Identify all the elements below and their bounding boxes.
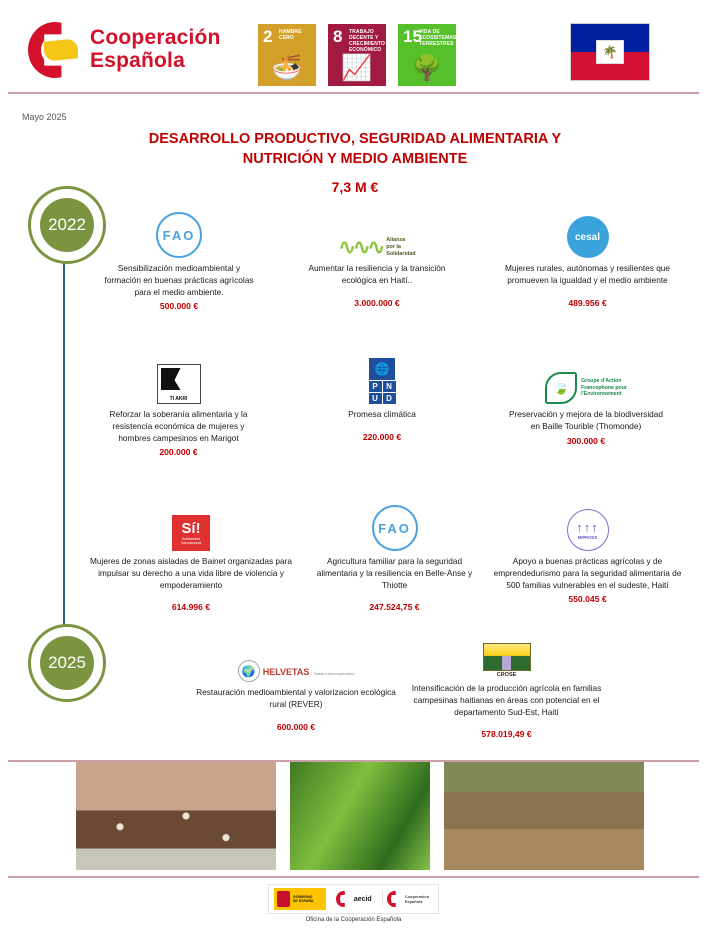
sdg-icons-row: 2 HAMBRE CERO 🍜 8 TRABAJO DECENTE Y CREC… [258, 24, 456, 86]
helvetas-wordmark: HELVETAS [263, 667, 310, 677]
page-footer: GOBIERNO DE ESPAÑA aecid Cooperación Esp… [0, 884, 707, 923]
cooperacion-espanola-c-icon-footer [387, 891, 402, 907]
footer-caption: Oficina de la Cooperación Española [0, 917, 707, 923]
project-amount: 489.956 € [495, 298, 680, 308]
project-amount: 300.000 € [506, 436, 666, 446]
page-title-line-2: NUTRICIÓN Y MEDIO AMBIENTE [120, 150, 590, 170]
crose-logo-icon: CROSE [483, 643, 531, 678]
spain-coat-of-arms-icon [277, 891, 290, 907]
page-header: Cooperación Española 2 HAMBRE CERO 🍜 8 T… [0, 0, 707, 96]
page-title-line-1: DESARROLLO PRODUCTIVO, SEGURIDAD ALIMENT… [120, 130, 590, 150]
project-description: Aumentar la resiliencia y la transición … [302, 263, 452, 287]
fao-logo-icon: FAO [156, 212, 202, 258]
si-logo: Sí!Solidaridad Internacional [86, 505, 296, 551]
tiakri-logo-icon: TI AKRI [157, 364, 201, 404]
bar-chart-arrow-icon: 📈 [328, 56, 386, 81]
project-card[interactable]: ∿∿∿ Alianzapor laSolidaridad Aumentar la… [302, 212, 452, 308]
crose-logo: CROSE [404, 632, 609, 678]
cesal-logo-icon: cesal [567, 216, 609, 258]
cesal-logo: cesal [495, 212, 680, 258]
alianza-por-la-solidaridad-logo: ∿∿∿ Alianzapor laSolidaridad [302, 212, 452, 258]
photo-strip [0, 762, 707, 870]
sdg-8-number: 8 [333, 28, 342, 45]
project-description: Agricultura familiar para la seguridad a… [312, 556, 477, 591]
sdg-2-label: HAMBRE CERO [279, 29, 313, 41]
photos-bottom-divider [8, 876, 699, 878]
project-description: Reforzar la soberanía alimentaria y la r… [96, 409, 261, 444]
project-amount: 550.045 € [490, 594, 685, 604]
fao-logo: FAO [312, 505, 477, 551]
footer-logo-group: GOBIERNO DE ESPAÑA aecid Cooperación Esp… [268, 884, 439, 914]
brand-line-1: Cooperación [90, 27, 221, 50]
publication-date: Mayo 2025 [22, 112, 67, 122]
project-card[interactable]: 🍃 Groupe d'ActionFrancophone pourl'Envir… [506, 358, 666, 446]
header-divider [8, 92, 699, 94]
photo-green-crops [290, 762, 430, 870]
sdg-2-number: 2 [263, 28, 272, 45]
tree-birds-icon: 🌳 [398, 56, 456, 81]
project-card[interactable]: cesal Mujeres rurales, autónomas y resil… [495, 212, 680, 308]
cooperacion-espanola-c-icon [28, 22, 82, 78]
total-amount: 7,3 M € [120, 179, 590, 195]
title-block: DESARROLLO PRODUCTIVO, SEGURIDAD ALIMENT… [120, 130, 590, 195]
timeline-node-end: 2025 [28, 624, 106, 702]
project-amount: 578.019,49 € [404, 729, 609, 739]
cooperacion-espanola-logo: Cooperación Española [28, 22, 221, 78]
fao-logo-icon: FAO [372, 505, 418, 551]
project-description: Promesa climática [312, 409, 452, 421]
project-description: Sensibilización medioambiental y formaci… [104, 263, 254, 298]
sdg-15-label: VIDA DE ECOSISTEMAS TERRESTRES [419, 29, 453, 47]
project-description: Intensificación de la producción agrícol… [404, 683, 609, 718]
project-card[interactable]: Sí!Solidaridad Internacional Mujeres de … [86, 505, 296, 612]
project-description: Mujeres de zonas aisladas de Bainet orga… [86, 556, 296, 591]
gafe-logo-icon: 🍃 Groupe d'ActionFrancophone pourl'Envir… [545, 372, 627, 404]
infographic-page: Cooperación Española 2 HAMBRE CERO 🍜 8 T… [0, 0, 707, 935]
crose-wordmark: CROSE [497, 672, 517, 678]
fao-logo: FAO [104, 212, 254, 258]
tiakri-logo: TI AKRI [96, 358, 261, 404]
project-card[interactable]: ↑↑↑MIPRODS Apoyo a buenas prácticas agrí… [490, 505, 685, 604]
helvetas-logo: 🌍 HELVETAS Swiss Intercooperation [196, 636, 396, 682]
gobierno-de-espana-logo: GOBIERNO DE ESPAÑA [274, 888, 326, 910]
sdg-8-badge: 8 TRABAJO DECENTE Y CRECIMIENTO ECONÓMIC… [328, 24, 386, 86]
aecid-c-icon [336, 891, 351, 907]
timeline-end-year: 2025 [40, 636, 94, 690]
sdg-2-badge: 2 HAMBRE CERO 🍜 [258, 24, 316, 86]
project-card[interactable]: 🌍 HELVETAS Swiss Intercooperation Restau… [196, 636, 396, 732]
sdg-8-label: TRABAJO DECENTE Y CRECIMIENTO ECONÓMICO [349, 29, 383, 53]
brand-line-2: Española [90, 50, 221, 73]
project-card[interactable]: CROSE Intensificación de la producción a… [404, 632, 609, 739]
haiti-flag-icon: 🌴 [570, 23, 650, 81]
project-description: Mujeres rurales, autónomas y resilientes… [495, 263, 680, 287]
miprods-logo-icon: ↑↑↑MIPRODS [567, 509, 609, 551]
gobierno-line-2: DE ESPAÑA [293, 899, 314, 903]
timeline-node-start: 2022 [28, 186, 106, 264]
timeline-start-year: 2022 [40, 198, 94, 252]
project-amount: 600.000 € [196, 722, 396, 732]
photo-farmer-terracing [444, 762, 644, 870]
project-card[interactable]: 🌐 PNUD Promesa climática 220.000 € [312, 358, 452, 442]
project-card[interactable]: TI AKRI Reforzar la soberanía alimentari… [96, 358, 261, 457]
miprods-logo: ↑↑↑MIPRODS [490, 505, 685, 551]
aecid-logo: aecid [332, 891, 376, 907]
haiti-coat-of-arms-icon: 🌴 [596, 40, 624, 64]
pnud-logo-icon: 🌐 PNUD [369, 358, 396, 404]
aecid-wordmark: aecid [354, 896, 372, 903]
brand-text: Cooperación Española [90, 27, 221, 72]
project-amount: 614.996 € [86, 602, 296, 612]
project-amount: 3.000.000 € [302, 298, 452, 308]
project-card[interactable]: FAO Sensibilización medioambiental y for… [104, 212, 254, 311]
project-card[interactable]: FAO Agricultura familiar para la segurid… [312, 505, 477, 612]
groupe-action-francophone-environnement-logo: 🍃 Groupe d'ActionFrancophone pourl'Envir… [506, 358, 666, 404]
alianza-logo-icon: ∿∿∿ Alianzapor laSolidaridad [338, 237, 415, 258]
pnud-logo: 🌐 PNUD [312, 358, 452, 404]
timeline-line [63, 258, 65, 640]
cooperacion-espanola-footer-logo: Cooperación Española [382, 891, 433, 907]
photo-poultry-house [76, 762, 276, 870]
ce-footer-line-2: Española [405, 899, 423, 904]
helvetas-logo-icon: 🌍 HELVETAS Swiss Intercooperation [238, 660, 355, 682]
project-amount: 500.000 € [104, 301, 254, 311]
project-amount: 200.000 € [96, 447, 261, 457]
si-logo-icon: Sí!Solidaridad Internacional [172, 515, 210, 551]
project-description: Apoyo a buenas prácticas agrícolas y de … [490, 556, 685, 591]
bowl-steam-icon: 🍜 [258, 56, 316, 81]
sdg-15-badge: 15 VIDA DE ECOSISTEMAS TERRESTRES 🌳 [398, 24, 456, 86]
project-description: Restauración medioambiental y valorizaci… [196, 687, 396, 711]
helvetas-subtext: Swiss Intercooperation [314, 671, 354, 676]
project-amount: 220.000 € [312, 432, 452, 442]
project-description: Preservación y mejora de la biodiversida… [506, 409, 666, 433]
project-amount: 247.524,75 € [312, 602, 477, 612]
